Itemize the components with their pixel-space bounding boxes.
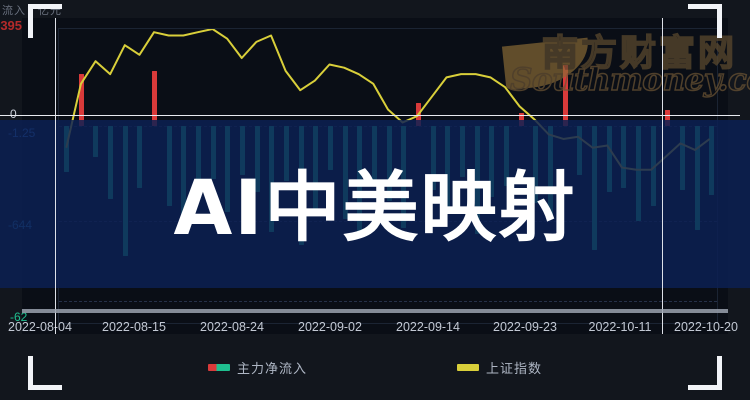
corner-bracket-top-right <box>688 4 722 38</box>
legend-swatch-index-icon <box>457 364 479 371</box>
legend-item-net-inflow[interactable]: 主力净流入 <box>208 358 307 377</box>
chart-screenshot: 流入：亿元 -395 0 -1.25 -644 -62 2022-08-04 2… <box>0 0 750 400</box>
overlay-title: AI中美映射 <box>0 160 750 255</box>
corner-bracket-bottom-left <box>28 356 62 390</box>
legend-label-index: 上证指数 <box>486 358 542 377</box>
legend-swatch-net-inflow-icon <box>208 364 230 371</box>
legend-item-index[interactable]: 上证指数 <box>457 358 542 377</box>
chart-legend: 主力净流入 上证指数 <box>0 357 750 377</box>
y-tick-0: 0 <box>10 107 17 121</box>
scroll-rail[interactable] <box>22 309 728 313</box>
overlay-title-text: AI中美映射 <box>173 170 576 246</box>
legend-label-net-inflow: 主力净流入 <box>237 358 307 377</box>
zero-crosshair-line <box>0 115 740 116</box>
corner-bracket-top-left <box>28 4 62 38</box>
corner-bracket-bottom-right <box>688 356 722 390</box>
corner-value: -395 <box>0 18 22 33</box>
